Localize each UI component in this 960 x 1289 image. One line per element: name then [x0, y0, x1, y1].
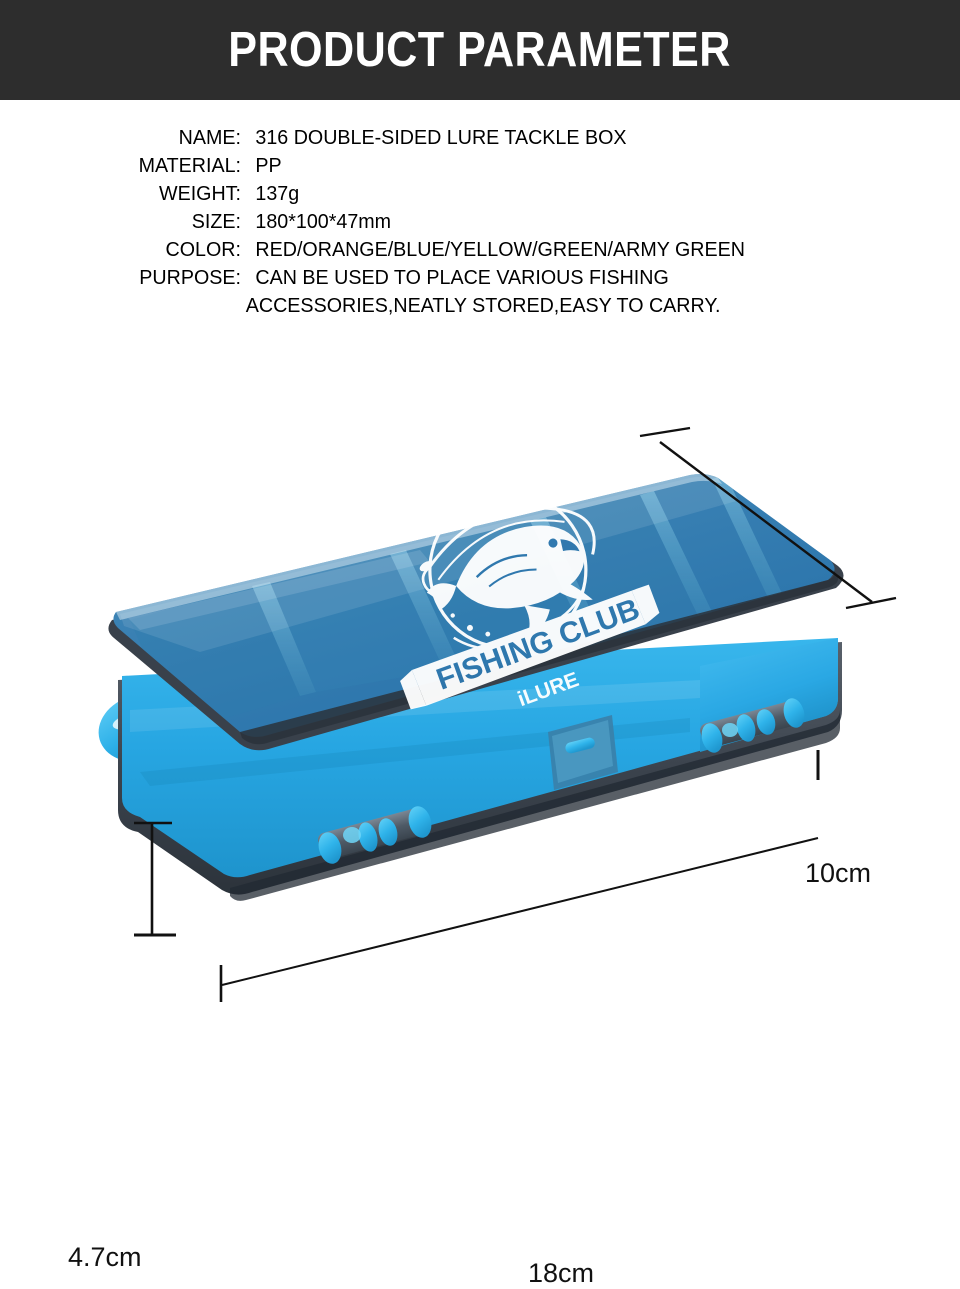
spec-label: SIZE:: [10, 210, 241, 234]
spec-label: PURPOSE:: [10, 266, 241, 290]
page-title: PRODUCT PARAMETER: [229, 22, 732, 78]
spec-label: MATERIAL:: [10, 154, 241, 178]
spec-value-continued: ACCESSORIES,NEATLY STORED,EASY TO CARRY.: [0, 294, 720, 318]
spec-row-purpose: PURPOSE: CAN BE USED TO PLACE VARIOUS FI…: [0, 266, 960, 294]
spec-value: CAN BE USED TO PLACE VARIOUS FISHING: [241, 266, 669, 290]
spec-value: PP: [241, 154, 282, 178]
spec-label: COLOR:: [10, 238, 241, 262]
dimension-label-length: 18cm: [528, 1258, 594, 1289]
header-bar: PRODUCT PARAMETER: [0, 0, 960, 100]
spec-value: 316 DOUBLE-SIDED LURE TACKLE BOX: [241, 126, 627, 150]
spec-row-name: NAME: 316 DOUBLE-SIDED LURE TACKLE BOX: [0, 126, 960, 154]
dimension-label-height: 4.7cm: [68, 1242, 142, 1273]
spec-label: WEIGHT:: [10, 182, 241, 206]
spec-label: NAME:: [10, 126, 241, 150]
spec-value: RED/ORANGE/BLUE/YELLOW/GREEN/ARMY GREEN: [241, 238, 745, 262]
spec-value: 137g: [241, 182, 299, 206]
specification-list: NAME: 316 DOUBLE-SIDED LURE TACKLE BOX M…: [0, 126, 960, 322]
spec-row-weight: WEIGHT: 137g: [0, 182, 960, 210]
spec-row-color: COLOR: RED/ORANGE/BLUE/YELLOW/GREEN/ARMY…: [0, 238, 960, 266]
spec-row-size: SIZE: 180*100*47mm: [0, 210, 960, 238]
dimension-label-depth: 10cm: [805, 858, 871, 889]
product-photo: FISHING CLUB iLURE: [0, 380, 960, 1037]
product-illustration: FISHING CLUB iLURE: [0, 380, 960, 1037]
spec-row-material: MATERIAL: PP: [0, 154, 960, 182]
spec-value: 180*100*47mm: [241, 210, 391, 234]
spec-row-purpose-continued: ACCESSORIES,NEATLY STORED,EASY TO CARRY.: [0, 294, 960, 322]
